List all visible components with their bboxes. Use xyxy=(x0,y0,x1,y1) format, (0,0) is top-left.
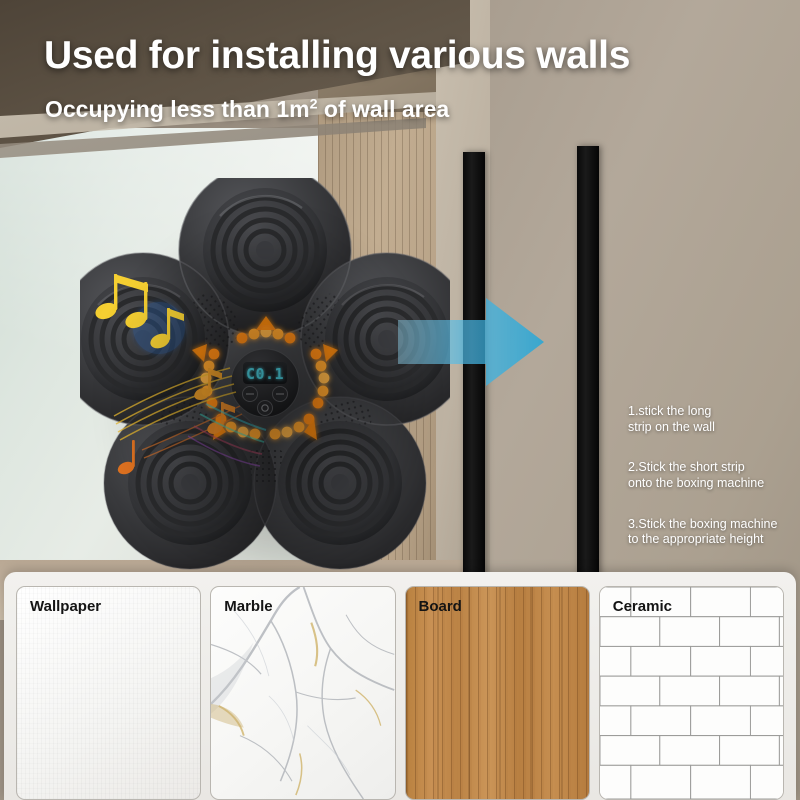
material-swatch-marble[interactable]: Marble xyxy=(210,586,395,800)
material-swatch-panel: Wallpaper xyxy=(4,572,796,800)
installation-instructions: 1.stick the longstrip on the wall 2.Stic… xyxy=(628,404,800,548)
material-label-wallpaper: Wallpaper xyxy=(30,598,101,615)
device-drop-shadow xyxy=(98,204,438,564)
marble-veining xyxy=(211,587,394,799)
material-swatch-board[interactable]: Board xyxy=(405,586,590,800)
material-label-ceramic: Ceramic xyxy=(613,598,672,615)
subtitle-pre: Occupying less than 1m xyxy=(45,96,310,122)
music-boxing-machine[interactable]: C0.1 xyxy=(80,178,450,578)
material-label-marble: Marble xyxy=(224,598,272,615)
material-swatch-wallpaper[interactable]: Wallpaper xyxy=(16,586,201,800)
mounting-direction-arrow xyxy=(398,290,544,394)
page-title: Used for installing various walls xyxy=(44,34,774,78)
subtitle-post: of wall area xyxy=(318,96,450,122)
instruction-step-1: 1.stick the longstrip on the wall xyxy=(628,404,800,435)
instruction-step-3: 3.Stick the boxing machineto the appropr… xyxy=(628,517,800,548)
page-subtitle: Occupying less than 1m2 of wall area xyxy=(45,96,775,123)
subtitle-superscript: 2 xyxy=(310,96,318,112)
material-swatch-ceramic[interactable]: Ceramic xyxy=(599,586,784,800)
ceramic-tile-pattern xyxy=(600,587,783,799)
material-label-board: Board xyxy=(419,598,462,615)
short-mounting-strip xyxy=(577,146,599,580)
instruction-step-2: 2.Stick the short striponto the boxing m… xyxy=(628,460,800,491)
product-marketing-image: Used for installing various walls Occupy… xyxy=(0,0,800,800)
